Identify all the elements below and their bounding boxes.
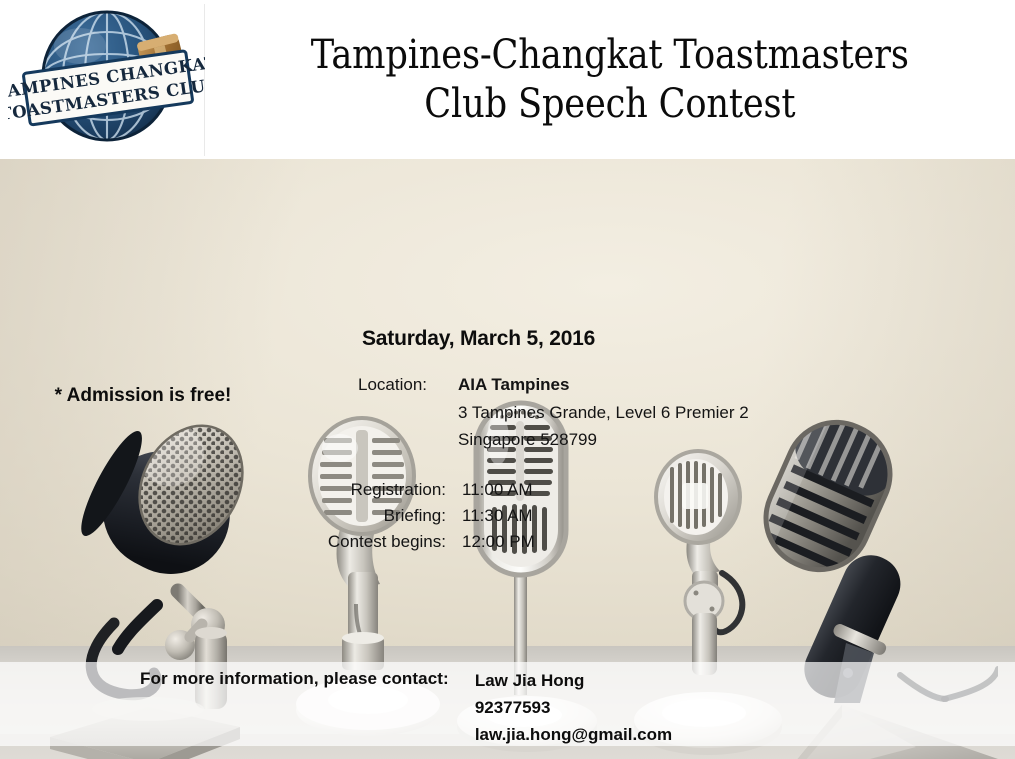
footer-contact-block: For more information, please contact: La… xyxy=(140,668,672,749)
location-address-line1: 3 Tampines Grande, Level 6 Premier 2 xyxy=(458,399,749,427)
admission-note: * Admission is free! xyxy=(48,383,238,409)
location-venue: AIA Tampines xyxy=(458,371,749,399)
contact-phone: 92377593 xyxy=(475,695,672,722)
schedule-row-contest-begins: Contest begins: 12:00 PM xyxy=(298,529,556,555)
event-date: Saturday, March 5, 2016 xyxy=(362,327,595,351)
location-label: Location: xyxy=(358,371,458,399)
silver-grille-microphone xyxy=(296,414,426,704)
schedule-label: Registration: xyxy=(298,477,446,503)
footer-contact-label: For more information, please contact: xyxy=(140,668,449,689)
schedule-time: 11:00 AM xyxy=(446,477,556,503)
schedule-row-registration: Registration: 11:00 AM xyxy=(298,477,556,503)
contact-name: Law Jia Hong xyxy=(475,668,672,695)
poster-title: Tampines-Changkat Toastmasters Club Spee… xyxy=(205,0,1015,159)
footer-contact-details: Law Jia Hong 92377593 law.jia.hong@gmail… xyxy=(475,668,672,749)
location-block: Location: AIA Tampines 3 Tampines Grande… xyxy=(358,371,749,454)
title-line-2: Club Speech Contest xyxy=(424,80,795,129)
poster-header: TAMPINES CHANGKAT TOASTMASTERS CLUB Tamp… xyxy=(0,0,1015,159)
schedule-time: 11:30 AM xyxy=(446,503,556,529)
club-logo: TAMPINES CHANGKAT TOASTMASTERS CLUB xyxy=(8,4,205,156)
schedule-label: Briefing: xyxy=(298,503,446,529)
location-address-line2: Singapore 528799 xyxy=(458,426,749,454)
speech-contest-poster: Saturday, March 5, 2016 * Admission is f… xyxy=(0,0,1015,759)
schedule-time: 12:00 PM xyxy=(446,529,556,555)
title-line-1: Tampines-Changkat Toastmasters xyxy=(311,31,909,80)
location-values: AIA Tampines 3 Tampines Grande, Level 6 … xyxy=(458,371,749,454)
schedule-label: Contest begins: xyxy=(298,529,446,555)
schedule-row-briefing: Briefing: 11:30 AM xyxy=(298,503,556,529)
schedule-block: Registration: 11:00 AM Briefing: 11:30 A… xyxy=(298,477,556,554)
location-row: Location: AIA Tampines 3 Tampines Grande… xyxy=(358,371,749,454)
contact-email[interactable]: law.jia.hong@gmail.com xyxy=(475,722,672,749)
